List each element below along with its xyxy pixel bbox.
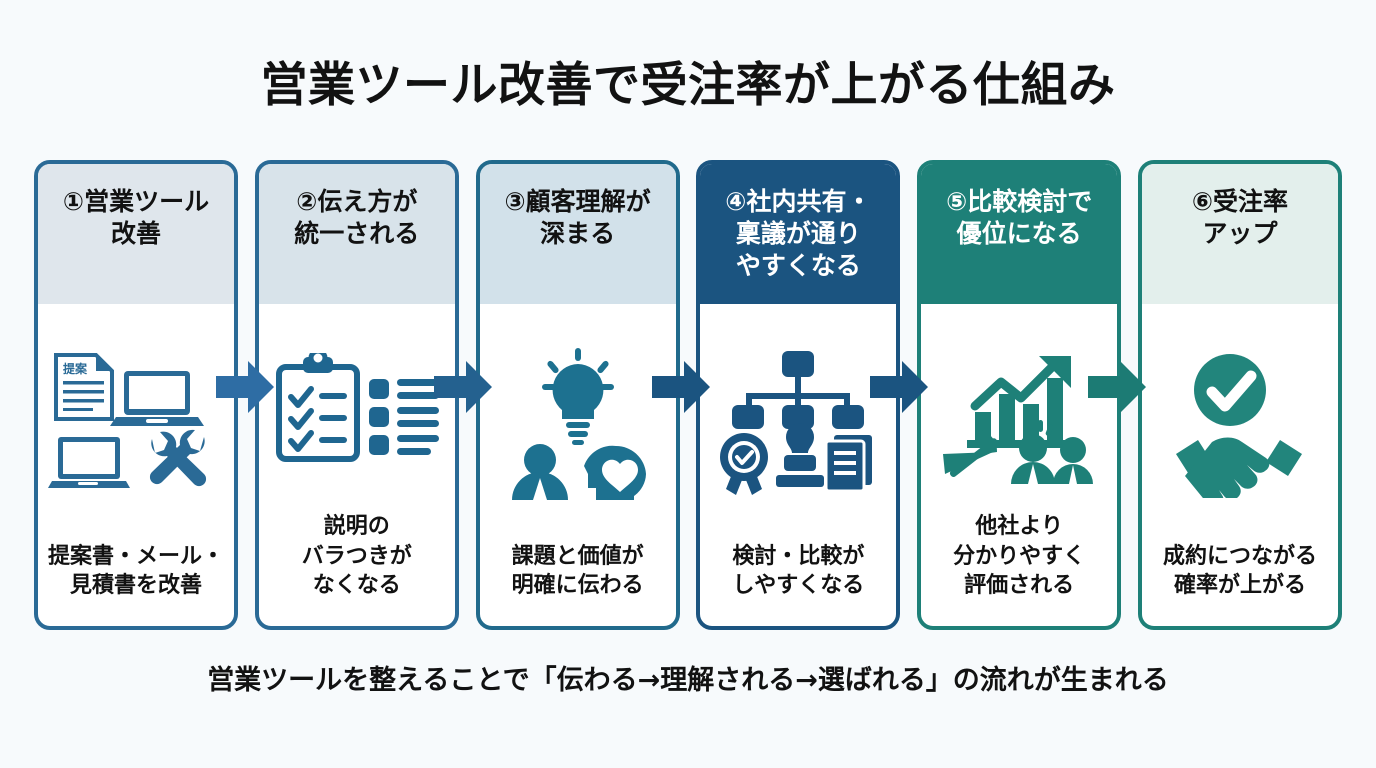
step2-icon-group xyxy=(273,353,441,465)
arrow-step4-to-step5 xyxy=(868,356,930,418)
comparison-arrows-icon xyxy=(943,428,999,478)
step-header-6: ⑥受注率 アップ xyxy=(1142,164,1338,304)
footer-area: 営業ツールを整えることで「伝わる→理解される→選ばれる」の流れが生まれる xyxy=(0,640,1376,768)
step-icons-1: 提案 xyxy=(38,304,234,542)
step-icons-4 xyxy=(700,304,896,542)
arrow-step2-to-step3 xyxy=(432,356,494,418)
step-header-3: ③顧客理解が 深まる xyxy=(480,164,676,304)
step-header-4: ④社内共有・ 稟議が通り やすくなる xyxy=(700,164,896,304)
step-header-1: ①営業ツール 改善 xyxy=(38,164,234,304)
clipboard-checklist-icon xyxy=(279,353,357,459)
check-circle-icon xyxy=(1194,354,1266,426)
step-icons-2 xyxy=(259,304,455,512)
step-caption-3: 課題と価値が 明確に伝わる xyxy=(480,542,676,627)
step-caption-6: 成約につながる 確率が上がる xyxy=(1142,542,1338,627)
tools-wrench-screwdriver-icon xyxy=(150,430,206,486)
step5-icon-group xyxy=(935,334,1103,484)
org-chart-icon xyxy=(732,351,864,429)
award-badge-icon xyxy=(720,433,768,495)
handshake-icon xyxy=(1176,437,1302,498)
step-caption-2: 説明の バラつきが なくなる xyxy=(259,512,455,626)
svg-text:提案: 提案 xyxy=(63,361,88,376)
step6-icon-group xyxy=(1156,350,1324,498)
arrow-step1-to-step2 xyxy=(214,356,276,418)
step-card-2[interactable]: ②伝え方が 統一される xyxy=(255,160,459,630)
bullet-list-icon xyxy=(369,379,439,455)
step-card-1[interactable]: ①営業ツール 改善 提案 xyxy=(34,160,238,630)
lightbulb-icon xyxy=(542,348,614,445)
head-with-heart-icon xyxy=(584,446,646,500)
step-heading-3: ③顧客理解が 深まる xyxy=(505,186,651,250)
step-heading-5: ⑤比較検討で 優位になる xyxy=(946,186,1092,250)
infographic-page: 営業ツール改善で受注率が上がる仕組み ①営業ツール 改善 提案 xyxy=(0,0,1376,768)
step-header-5: ⑤比較検討で 優位になる xyxy=(921,164,1117,304)
footer-summary: 営業ツールを整えることで「伝わる→理解される→選ばれる」の流れが生まれる xyxy=(207,658,1169,697)
step4-icon-group xyxy=(714,349,882,499)
laptop-icon xyxy=(48,437,130,488)
documents-icon xyxy=(826,435,872,491)
step-heading-1: ①営業ツール 改善 xyxy=(63,186,209,250)
flow-steps-container: ①営業ツール 改善 提案 xyxy=(0,160,1376,640)
step-icons-3 xyxy=(480,304,676,542)
step-card-6[interactable]: ⑥受注率 アップ 成約につながる 確率が上がる xyxy=(1138,160,1342,630)
proposal-document-icon: 提案 xyxy=(56,355,112,419)
step-heading-2: ②伝え方が 統一される xyxy=(294,186,419,250)
step1-icon-group: 提案 xyxy=(48,349,224,499)
step-caption-4: 検討・比較が しやすくなる xyxy=(700,542,896,627)
step-caption-5: 他社より 分かりやすく 評価される xyxy=(921,512,1117,626)
step-caption-1: 提案書・メール・ 見積書を改善 xyxy=(38,542,234,627)
title-area: 営業ツール改善で受注率が上がる仕組み xyxy=(0,0,1376,160)
laptop-icon xyxy=(110,371,204,426)
approval-stamp-icon xyxy=(776,423,824,487)
arrow-step5-to-step6 xyxy=(1086,356,1148,418)
arrow-step3-to-step4 xyxy=(650,356,712,418)
step-heading-6: ⑥受注率 アップ xyxy=(1192,186,1288,250)
person-icon xyxy=(512,444,568,500)
step-header-2: ②伝え方が 統一される xyxy=(259,164,455,304)
step-card-3[interactable]: ③顧客理解が 深まる xyxy=(476,160,680,630)
step-heading-4: ④社内共有・ 稟議が通り やすくなる xyxy=(725,186,871,282)
page-title: 営業ツール改善で受注率が上がる仕組み xyxy=(261,46,1116,115)
step3-icon-group xyxy=(498,348,658,500)
step-icons-6 xyxy=(1142,304,1338,542)
